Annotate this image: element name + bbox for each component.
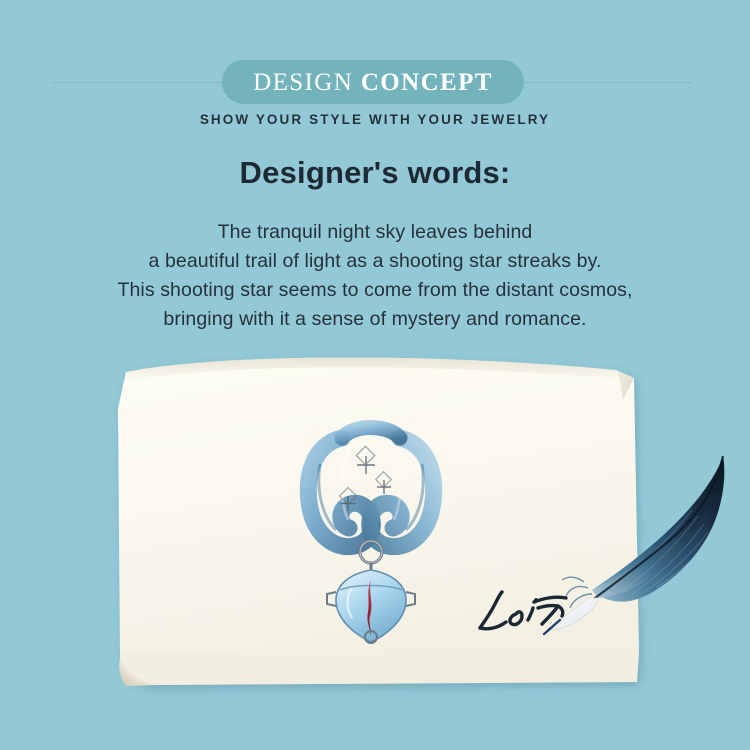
design-concept-badge: DESIGN CONCEPT (222, 60, 524, 104)
badge-label: DESIGN CONCEPT (253, 70, 493, 95)
designer-words-paragraph: The tranquil night sky leaves behind a b… (0, 218, 750, 334)
ribbon-swirls (308, 428, 433, 547)
design-concept-poster: DESIGN CONCEPT SHOW YOUR STYLE WITH YOUR… (0, 0, 750, 750)
paragraph-line: a beautiful trail of light as a shooting… (0, 247, 750, 276)
paragraph-line: This shooting star seems to come from th… (0, 276, 750, 305)
paragraph-line: The tranquil night sky leaves behind (0, 218, 750, 247)
badge-label-light: DESIGN (253, 69, 353, 96)
paragraph-line: bringing with it a sense of mystery and … (0, 305, 750, 334)
poster-subtitle: SHOW YOUR STYLE WITH YOUR JEWELRY (0, 112, 750, 127)
designer-signature (468, 572, 588, 644)
pendant-sketch-icon (296, 404, 446, 644)
page-title: Designer's words: (0, 155, 750, 191)
paper-bottom-shade (120, 648, 639, 685)
badge-label-bold: CONCEPT (361, 69, 493, 96)
